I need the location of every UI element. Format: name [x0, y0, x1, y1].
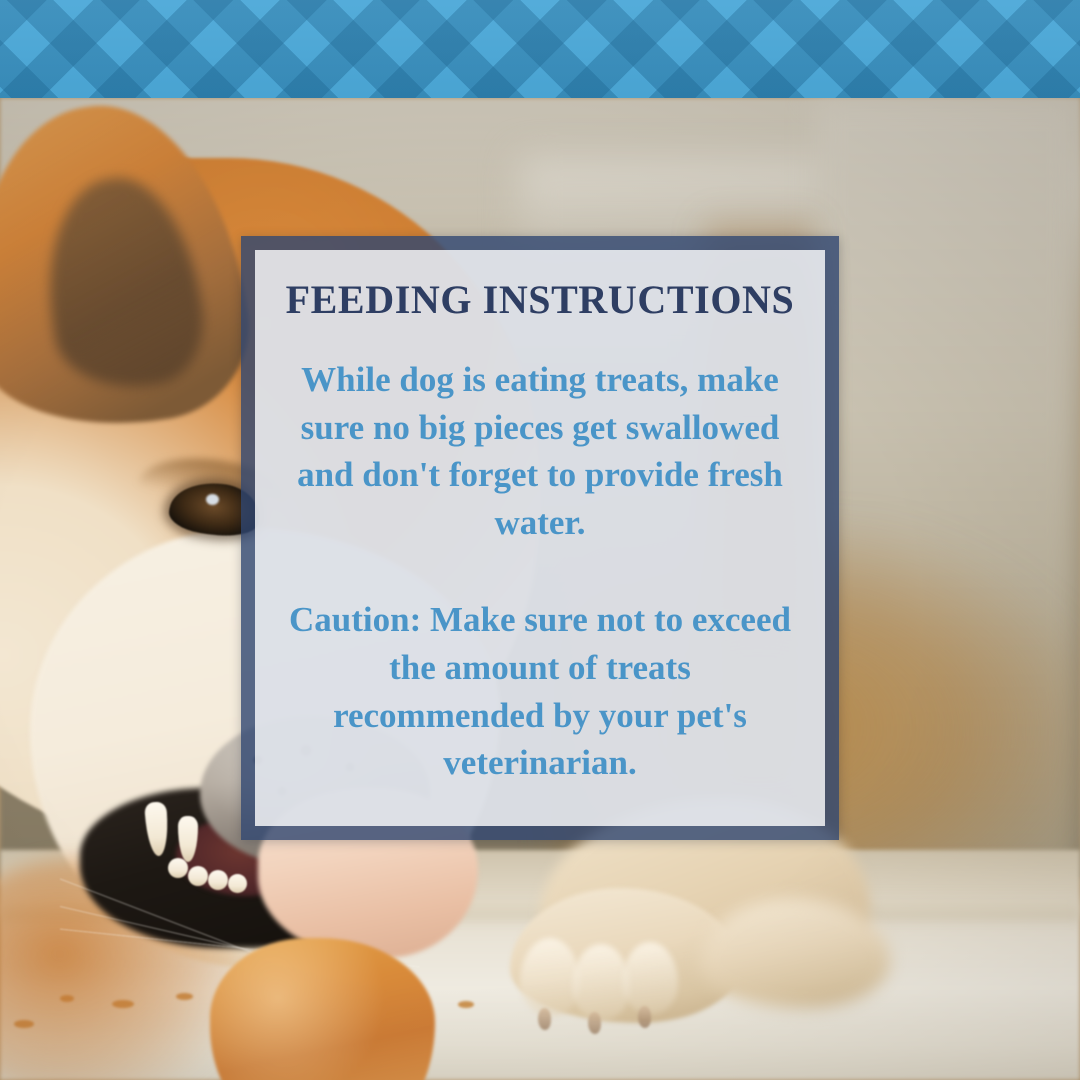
gingham-banner: [0, 0, 1080, 98]
instruction-paragraph-caution: Caution: Make sure not to exceed the amo…: [283, 596, 797, 786]
product-instruction-graphic: FEEDING INSTRUCTIONS While dog is eating…: [0, 0, 1080, 1080]
banner-shading-overlay: [0, 0, 1080, 98]
dog-claw: [588, 1012, 601, 1034]
dog-eye-highlight: [206, 494, 219, 505]
instruction-paragraph-feeding: While dog is eating treats, make sure no…: [283, 356, 797, 546]
instructions-body: While dog is eating treats, make sure no…: [283, 356, 797, 787]
feeding-instructions-panel: FEEDING INSTRUCTIONS While dog is eating…: [255, 250, 825, 826]
feeding-instructions-card: FEEDING INSTRUCTIONS While dog is eating…: [241, 236, 839, 840]
page-title: FEEDING INSTRUCTIONS: [286, 278, 795, 322]
dog-claw: [538, 1008, 551, 1030]
dog-claw: [638, 1006, 651, 1028]
